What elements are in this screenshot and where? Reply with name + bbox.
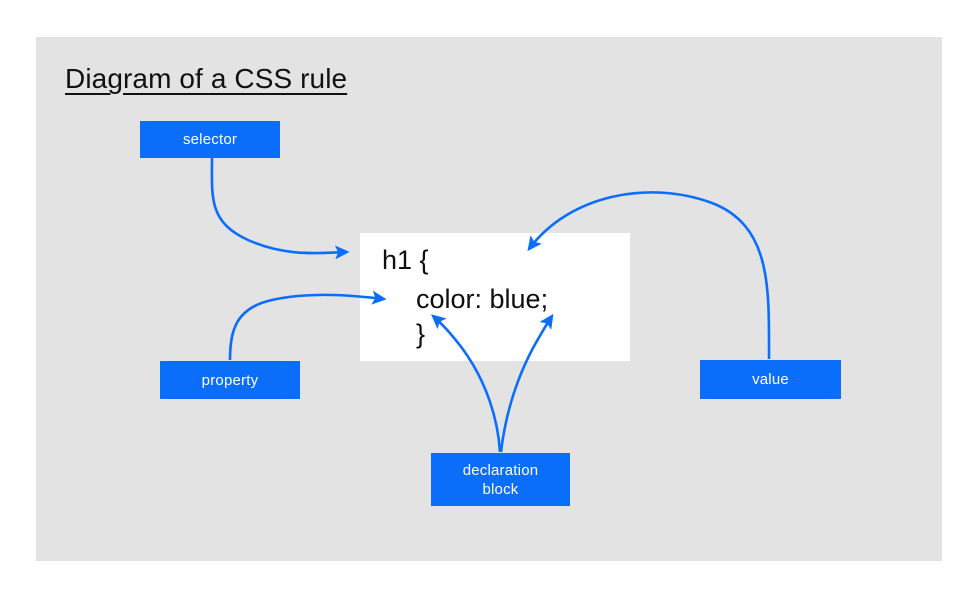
diagram-canvas: Diagram of a CSS rule h1 { color: blue; …: [0, 0, 980, 600]
label-box-declaration-block-line1: declaration: [463, 462, 539, 479]
code-line-declaration: color: blue;: [416, 286, 548, 313]
label-box-selector-text: selector: [183, 130, 237, 149]
label-box-value-text: value: [752, 370, 789, 389]
code-line-closing-brace: }: [416, 321, 425, 348]
label-box-property-text: property: [202, 371, 259, 390]
label-box-property[interactable]: property: [160, 361, 300, 399]
label-box-declaration-block[interactable]: declaration block: [431, 453, 570, 506]
page-title: Diagram of a CSS rule: [65, 62, 347, 96]
label-box-value[interactable]: value: [700, 360, 841, 399]
label-box-declaration-block-line2: block: [482, 481, 518, 498]
label-box-selector[interactable]: selector: [140, 121, 280, 158]
css-code-block: h1 { color: blue; }: [360, 233, 630, 361]
label-box-declaration-block-text: declaration block: [463, 461, 539, 499]
code-line-selector: h1 {: [382, 247, 429, 274]
